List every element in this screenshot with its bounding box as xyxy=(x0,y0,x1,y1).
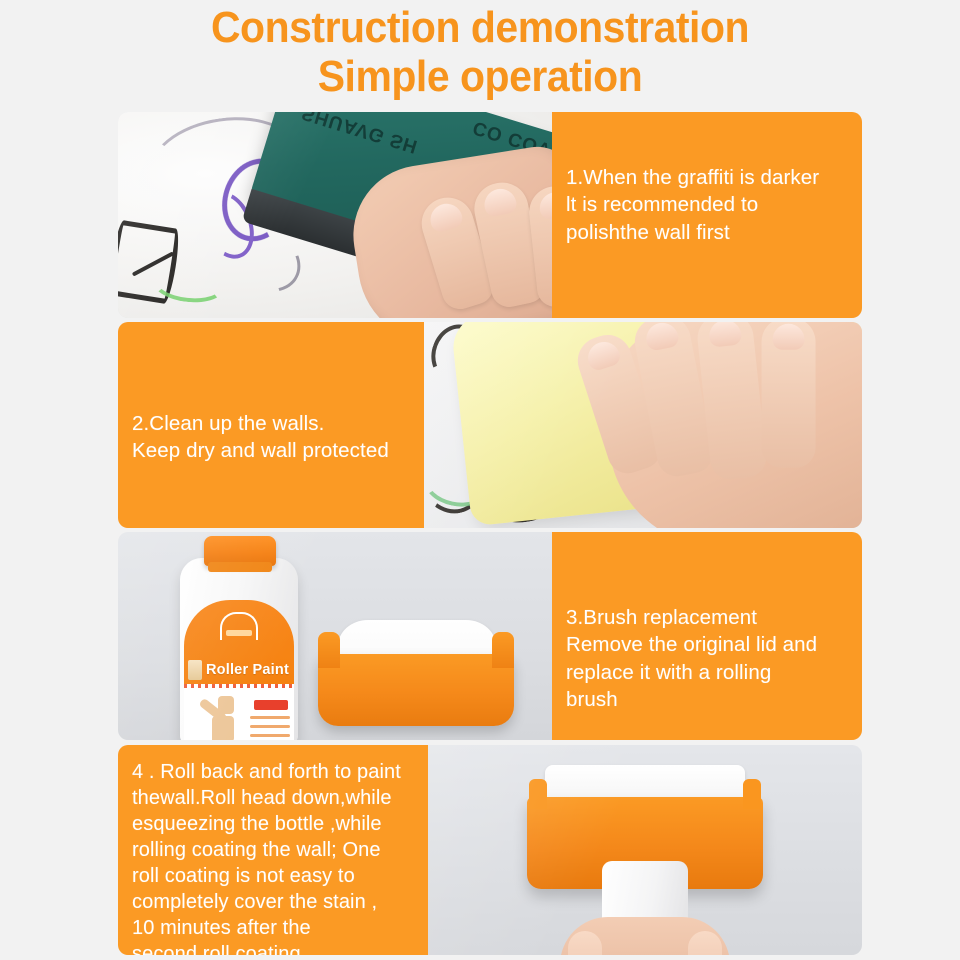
fingernail xyxy=(773,324,805,350)
step-row-1: CO COVLED SHUAVG SH 1.When the graffiti … xyxy=(118,112,862,318)
step-1-text-panel: 1.When the graffiti is darker lt is reco… xyxy=(552,112,862,318)
fingernail xyxy=(584,338,622,373)
product-name: Roller Paint xyxy=(206,662,289,678)
step-3-photo: Roller Paint xyxy=(118,532,556,740)
step-3-line-3: replace it with a rolling xyxy=(566,659,848,686)
step-row-4: 4 . Roll back and forth to paint thewall… xyxy=(118,745,862,955)
step-2-photo xyxy=(424,322,862,528)
finger xyxy=(568,931,602,955)
step-2-line-1: 2.Clean up the walls. xyxy=(132,410,414,437)
page-title: Construction demonstration Simple operat… xyxy=(0,6,960,100)
label-red-badge xyxy=(254,700,288,710)
roller-brush-head xyxy=(318,620,514,732)
step-row-3: Roller Paint xyxy=(118,532,862,740)
step-1-line-1: 1.When the graffiti is darker xyxy=(566,164,848,191)
scene-sanding-block: CO COVLED SHUAVG SH xyxy=(118,112,556,318)
label-chip xyxy=(188,660,202,680)
step-1-photo: CO COVLED SHUAVG SH xyxy=(118,112,556,318)
step-4-line-8: second roll coating xyxy=(132,941,416,955)
title-line-2: Simple operation xyxy=(34,55,927,100)
step-3-text-panel: 3.Brush replacement Remove the original … xyxy=(552,532,862,740)
label-illustration xyxy=(198,696,250,740)
fingernail xyxy=(708,322,743,348)
scene-bottle-and-roller: Roller Paint xyxy=(118,532,556,740)
step-4-line-6: completely cover the stain , xyxy=(132,889,416,915)
step-3-line-2: Remove the original lid and xyxy=(566,631,848,658)
scene-cloth-wipe xyxy=(424,322,862,528)
scene-assembled-roller xyxy=(428,745,862,955)
bottle-cap xyxy=(204,536,276,566)
step-4-line-4: rolling coating the wall; One xyxy=(132,837,416,863)
step-4-photo xyxy=(428,745,862,955)
bottle-body: Roller Paint xyxy=(180,558,298,740)
title-line-1: Construction demonstration xyxy=(34,6,927,51)
roller-frame xyxy=(318,654,514,726)
step-3-line-4: brush xyxy=(566,686,848,713)
sanding-block-text-mid: SHUAVG SH xyxy=(299,112,421,157)
step-2-text-panel: 2.Clean up the walls. Keep dry and wall … xyxy=(118,322,428,528)
paint-bottle: Roller Paint xyxy=(180,536,298,740)
hand xyxy=(560,917,730,955)
step-4-line-5: roll coating is not easy to xyxy=(132,863,416,889)
step-row-2: 2.Clean up the walls. Keep dry and wall … xyxy=(118,322,862,528)
step-2-line-2: Keep dry and wall protected xyxy=(132,437,414,464)
fingernail xyxy=(644,322,680,352)
step-1-line-3: polishthe wall first xyxy=(566,219,848,246)
finger xyxy=(762,322,816,468)
fingernail xyxy=(427,200,465,234)
step-4-line-3: esqueezing the bottle ,while xyxy=(132,811,416,837)
hand xyxy=(600,322,862,528)
step-3-line-1: 3.Brush replacement xyxy=(566,604,848,631)
fingernail xyxy=(482,186,519,218)
bottle-label-top: Roller Paint xyxy=(184,600,294,684)
step-4-line-1: 4 . Roll back and forth to paint xyxy=(132,759,416,785)
step-4-line-2: thewall.Roll head down,while xyxy=(132,785,416,811)
label-dotted-line xyxy=(184,684,294,688)
label-bullet-list xyxy=(250,716,290,740)
step-4-text-panel: 4 . Roll back and forth to paint thewall… xyxy=(118,745,430,955)
assembled-roller-bottle xyxy=(527,765,763,955)
finger xyxy=(688,931,722,955)
step-1-line-2: lt is recommended to xyxy=(566,191,848,218)
step-4-line-7: 10 minutes after the xyxy=(132,915,416,941)
bottle-label-bottom xyxy=(184,684,294,740)
brand-logo-icon xyxy=(220,612,258,640)
